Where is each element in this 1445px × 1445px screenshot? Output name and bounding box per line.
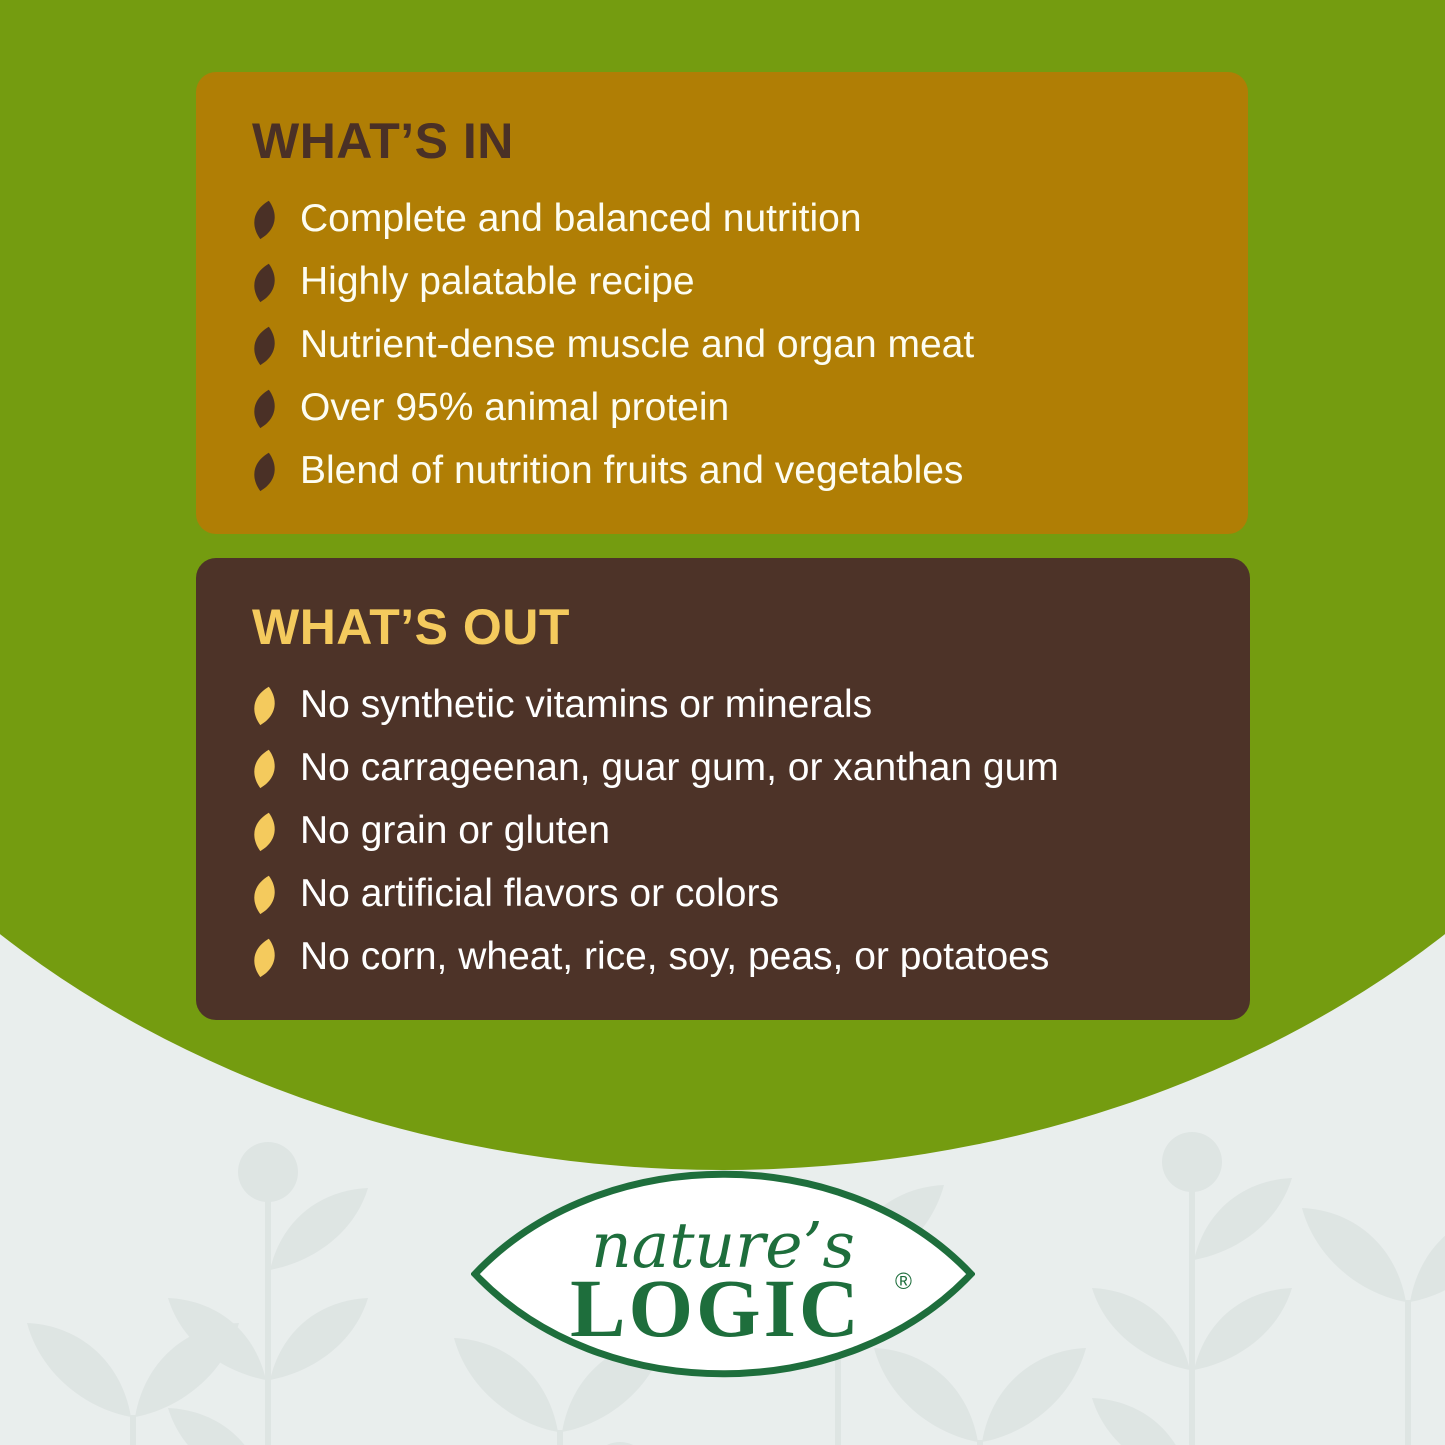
list-item-label: Over 95% animal protein <box>300 387 729 430</box>
list-item: No corn, wheat, rice, soy, peas, or pota… <box>244 930 1210 984</box>
list-item: Blend of nutrition fruits and vegetables <box>244 444 1208 498</box>
leaf-icon <box>244 452 284 492</box>
whats-out-title: WHAT’S OUT <box>252 602 1210 652</box>
whats-out-card: WHAT’S OUT No synthetic vitamins or mine… <box>196 558 1250 1020</box>
leaf-icon <box>244 749 284 789</box>
list-item-label: Highly palatable recipe <box>300 261 695 304</box>
list-item-label: Nutrient-dense muscle and organ meat <box>300 324 974 367</box>
list-item-label: No artificial flavors or colors <box>300 873 779 916</box>
list-item-label: No carrageenan, guar gum, or xanthan gum <box>300 747 1059 790</box>
list-item: Nutrient-dense muscle and organ meat <box>244 318 1208 372</box>
list-item-label: Complete and balanced nutrition <box>300 198 862 241</box>
leaf-icon <box>244 938 284 978</box>
leaf-icon <box>244 326 284 366</box>
whats-out-list: No synthetic vitamins or minerals No car… <box>244 678 1210 984</box>
whats-in-title: WHAT’S IN <box>252 116 1208 166</box>
list-item: No carrageenan, guar gum, or xanthan gum <box>244 741 1210 795</box>
list-item-label: Blend of nutrition fruits and vegetables <box>300 450 963 493</box>
logo-registered-mark: ® <box>895 1268 912 1294</box>
list-item-label: No synthetic vitamins or minerals <box>300 684 872 727</box>
leaf-icon <box>244 875 284 915</box>
list-item: Highly palatable recipe <box>244 255 1208 309</box>
brand-logo: nature’s LOGIC ® <box>471 1149 975 1399</box>
whats-in-list: Complete and balanced nutrition Highly p… <box>244 192 1208 498</box>
promo-graphic: WHAT’S IN Complete and balanced nutritio… <box>0 0 1445 1445</box>
list-item-label: No grain or gluten <box>300 810 610 853</box>
leaf-icon <box>244 812 284 852</box>
leaf-icon <box>244 263 284 303</box>
list-item: No artificial flavors or colors <box>244 867 1210 921</box>
leaf-icon <box>244 686 284 726</box>
list-item: No synthetic vitamins or minerals <box>244 678 1210 732</box>
list-item: No grain or gluten <box>244 804 1210 858</box>
list-item: Over 95% animal protein <box>244 381 1208 435</box>
leaf-icon <box>244 389 284 429</box>
list-item: Complete and balanced nutrition <box>244 192 1208 246</box>
whats-in-card: WHAT’S IN Complete and balanced nutritio… <box>196 72 1248 534</box>
logo-wordmark-text: LOGIC <box>570 1262 862 1354</box>
list-item-label: No corn, wheat, rice, soy, peas, or pota… <box>300 936 1049 979</box>
leaf-icon <box>244 200 284 240</box>
